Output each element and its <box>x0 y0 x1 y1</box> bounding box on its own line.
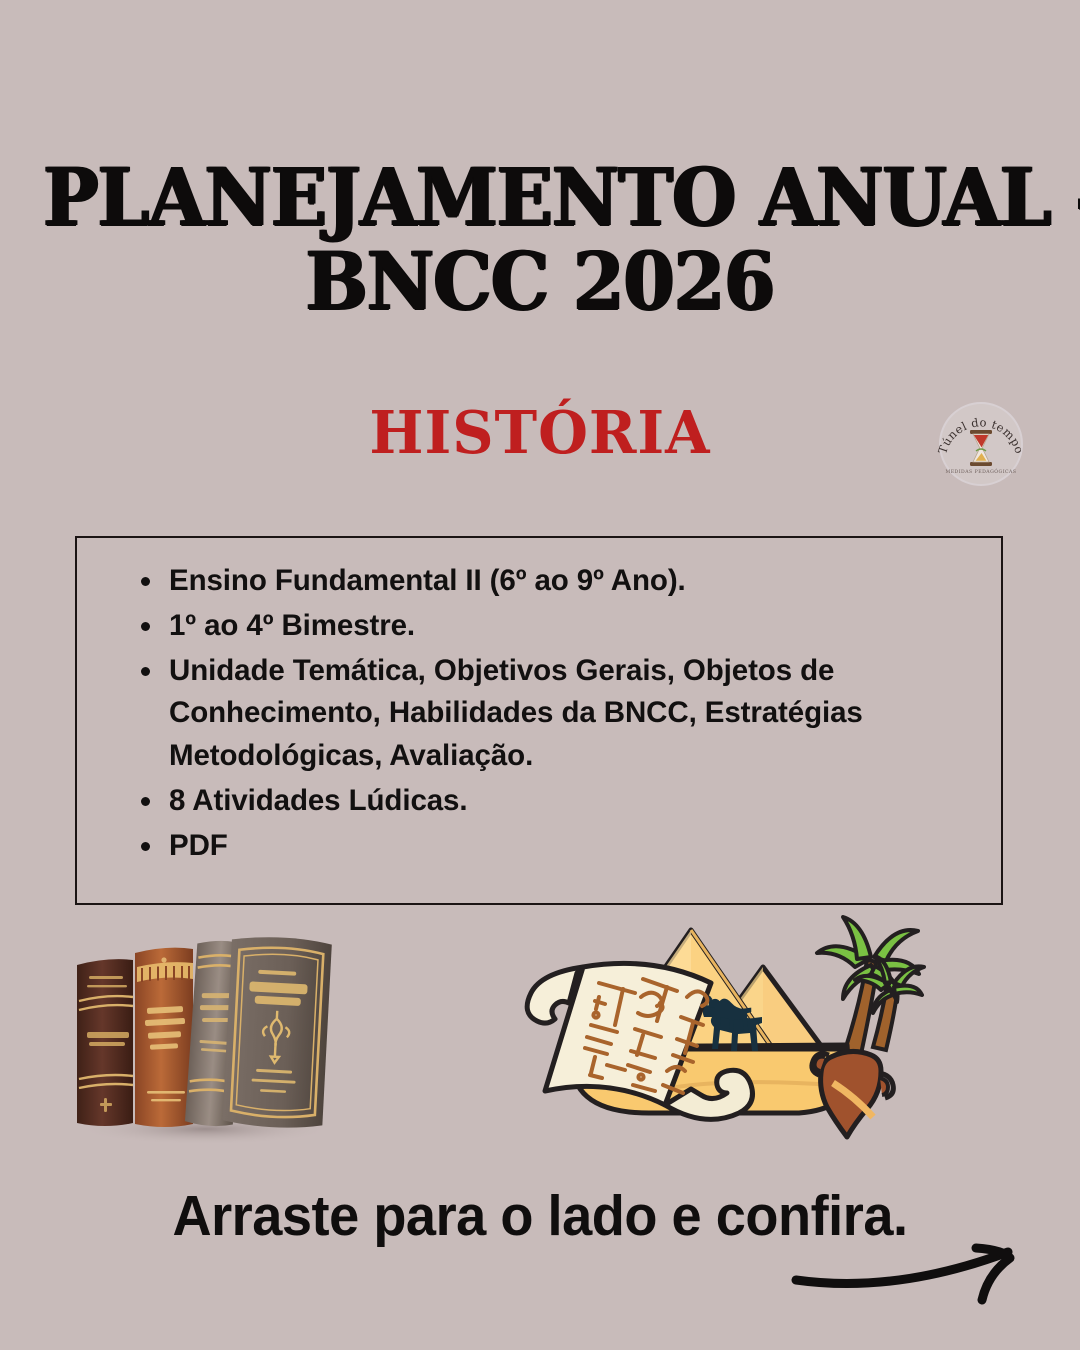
palm-tree-icon <box>817 917 924 1054</box>
hourglass-icon <box>967 429 995 467</box>
egypt-pyramids-illustration <box>495 905 935 1155</box>
list-item: 8 Atividades Lúdicas. <box>139 780 977 823</box>
list-item: Ensino Fundamental II (6º ao 9º Ano). <box>139 560 977 603</box>
details-list: Ensino Fundamental II (6º ao 9º Ano). 1º… <box>77 538 1001 867</box>
poster-title: PLANEJAMENTO ANUAL - BNCC 2026 <box>0 158 1080 321</box>
subject-heading: HISTÓRIA <box>16 398 1064 467</box>
brand-logo: Túnel do tempo MEDIDAS PEDAGÓGICAS <box>933 396 1029 492</box>
title-line-2: BNCC 2026 <box>43 242 1037 320</box>
antique-books-illustration <box>55 915 355 1153</box>
list-item: Unidade Temática, Objetivos Gerais, Obje… <box>139 650 977 778</box>
amphora-icon <box>812 1051 893 1137</box>
curved-right-arrow-icon <box>790 1238 1046 1316</box>
details-box: Ensino Fundamental II (6º ao 9º Ano). 1º… <box>75 536 1003 905</box>
logo-subtitle: MEDIDAS PEDAGÓGICAS <box>933 470 1029 475</box>
list-item: 1º ao 4º Bimestre. <box>139 605 977 648</box>
poster-canvas: PLANEJAMENTO ANUAL - BNCC 2026 HISTÓRIA … <box>0 0 1080 1350</box>
list-item: PDF <box>139 825 977 868</box>
title-line-1: PLANEJAMENTO ANUAL - <box>43 158 1037 236</box>
